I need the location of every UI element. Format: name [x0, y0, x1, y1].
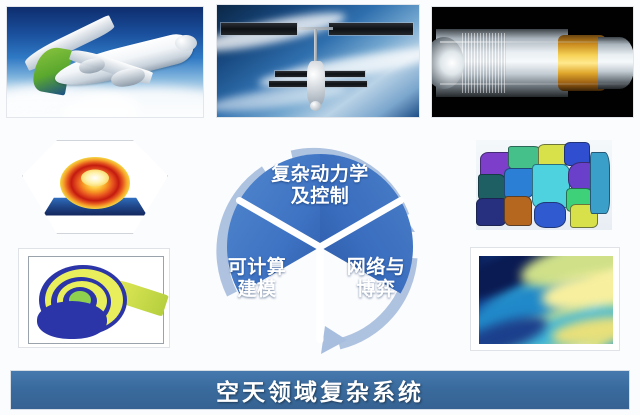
engine-casing-line — [440, 83, 630, 85]
plot-frame — [22, 140, 168, 234]
three-segment-cycle-diagram: 复杂动力学 及控制 可计算 建模 网络与 博弈 — [191, 128, 449, 366]
grain — [504, 168, 534, 198]
photo-space-station — [216, 4, 420, 118]
grain-structure-cube — [476, 140, 612, 230]
volcano-crater — [81, 169, 109, 186]
panel-polycrystal-grain-cube — [464, 134, 624, 236]
solar-panel — [321, 81, 367, 87]
solar-panel — [221, 23, 297, 35]
photo-commercial-airliner — [6, 6, 204, 118]
turbine-exhaust — [598, 37, 634, 89]
engine-casing-line — [440, 41, 630, 43]
docking-node — [310, 101, 321, 111]
plot-frame — [28, 256, 164, 344]
panel-phase-portrait — [18, 248, 170, 348]
slide-canvas: 复杂动力学 及控制 可计算 建模 网络与 博弈 空天领域复杂系统 — [0, 0, 640, 415]
title-banner: 空天领域复杂系统 — [10, 370, 630, 410]
flow-contour-field — [479, 256, 613, 344]
station-module — [307, 61, 325, 105]
solar-panel — [321, 71, 365, 77]
grain — [534, 202, 566, 228]
panel-flow-field-contour — [470, 247, 620, 351]
grain — [590, 152, 610, 214]
photo-turbofan-engine — [431, 6, 634, 118]
banner-title-text: 空天领域复杂系统 — [216, 373, 424, 407]
panel-surface-3d-plot — [14, 134, 174, 236]
grain — [476, 198, 506, 226]
grain — [504, 196, 532, 226]
arrowhead-bottom — [321, 326, 347, 354]
solar-panel — [329, 23, 413, 35]
aircraft-nose — [175, 35, 197, 51]
